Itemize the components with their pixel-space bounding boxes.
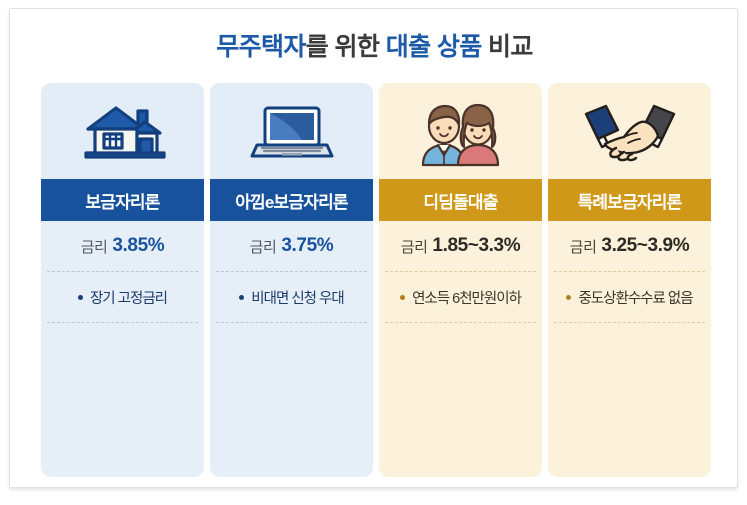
title-segment-2: 를 위한 [306, 33, 386, 61]
rate-value: 1.85~3.3% [432, 235, 520, 257]
handshake-icon [548, 83, 711, 179]
product-columns: 보금자리론 금리 3.85% 장기 고정금리 [41, 83, 711, 477]
feature-row: 비대면 신청 우대 [210, 272, 373, 322]
comparison-card: 무주택자를 위한 대출 상품 비교 [9, 8, 738, 488]
column-filler [210, 323, 373, 477]
title-segment-1: 무주택자 [216, 33, 306, 61]
product-name-header: 보금자리론 [41, 179, 204, 221]
product-column-bogeumjari[interactable]: 보금자리론 금리 3.85% 장기 고정금리 [41, 83, 204, 477]
infographic-page: 무주택자를 위한 대출 상품 비교 [0, 0, 747, 505]
product-name-header: 아낌e보금자리론 [210, 179, 373, 221]
feature-text: 연소득 6천만원이하 [412, 287, 521, 308]
feature-row: 중도상환수수료 없음 [548, 272, 711, 322]
title-segment-3: 대출 상품 [386, 33, 482, 61]
rate-row: 금리 3.85% [41, 221, 204, 271]
house-icon [41, 83, 204, 179]
title-segment-4: 비교 [482, 33, 533, 61]
rate-row: 금리 1.85~3.3% [379, 221, 542, 271]
feature-row: 연소득 6천만원이하 [379, 272, 542, 322]
bullet-dot-icon [78, 295, 83, 300]
bullet-dot-icon [566, 295, 571, 300]
rate-row: 금리 3.25~3.9% [548, 221, 711, 271]
product-column-akkim-e[interactable]: 아낌e보금자리론 금리 3.75% 비대면 신청 우대 [210, 83, 373, 477]
rate-row: 금리 3.75% [210, 221, 373, 271]
rate-label: 금리 [81, 236, 108, 257]
column-filler [548, 323, 711, 477]
rate-value: 3.25~3.9% [601, 235, 689, 257]
product-column-didimdol[interactable]: 디딤돌대출 금리 1.85~3.3% 연소득 6천만원이하 [379, 83, 542, 477]
feature-text: 비대면 신청 우대 [251, 287, 343, 308]
product-column-teukrye[interactable]: 특례보금자리론 금리 3.25~3.9% 중도상환수수료 없음 [548, 83, 711, 477]
couple-icon [379, 83, 542, 179]
rate-label: 금리 [250, 236, 277, 257]
rate-label: 금리 [401, 236, 428, 257]
feature-text: 장기 고정금리 [90, 287, 167, 308]
product-name-header: 디딤돌대출 [379, 179, 542, 221]
feature-row: 장기 고정금리 [41, 272, 204, 322]
column-filler [41, 323, 204, 477]
bullet-dot-icon [400, 295, 405, 300]
page-title: 무주택자를 위한 대출 상품 비교 [10, 27, 739, 63]
rate-value: 3.85% [112, 235, 164, 257]
rate-value: 3.75% [281, 235, 333, 257]
column-filler [379, 323, 542, 477]
bullet-dot-icon [239, 295, 244, 300]
product-name-header: 특례보금자리론 [548, 179, 711, 221]
feature-text: 중도상환수수료 없음 [578, 287, 692, 308]
laptop-icon [210, 83, 373, 179]
rate-label: 금리 [570, 236, 597, 257]
